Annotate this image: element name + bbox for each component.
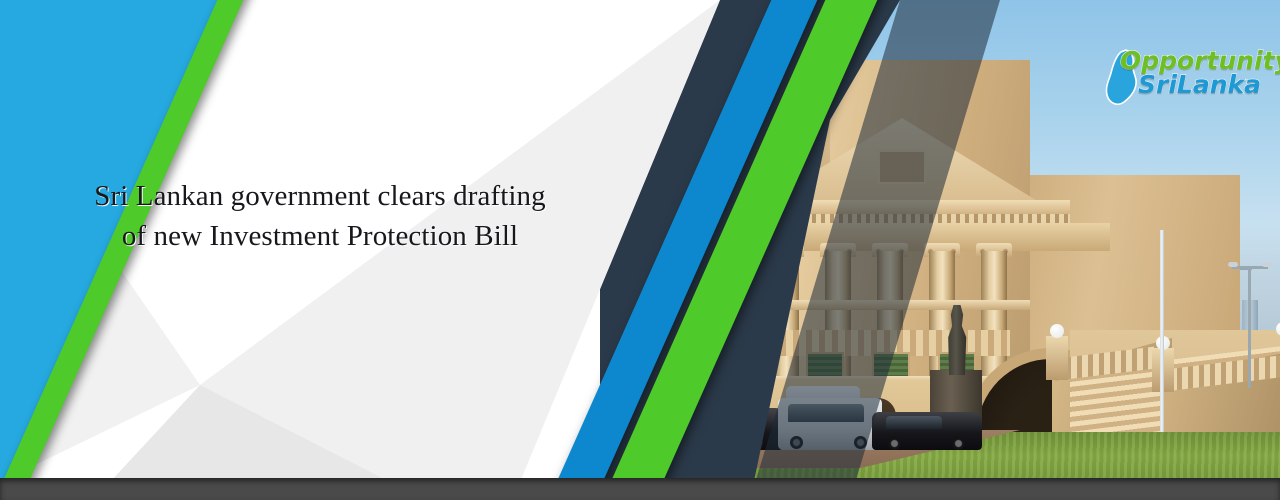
car-wheel xyxy=(952,437,965,450)
news-banner: Sri Lankan government clears drafting of… xyxy=(0,0,1280,500)
opportunity-sri-lanka-logo[interactable]: Opportunity SriLanka xyxy=(1100,46,1268,108)
logo-wordmark: Opportunity SriLanka xyxy=(1120,46,1270,106)
footer-bar xyxy=(0,478,1280,500)
street-lamp-post xyxy=(1248,268,1251,388)
street-lamp-head xyxy=(1228,262,1238,267)
logo-word-srilanka: SriLanka xyxy=(1138,70,1261,99)
headline-line-1: Sri Lankan government clears drafting xyxy=(60,176,580,216)
globe-lamp xyxy=(1050,324,1064,338)
car-window xyxy=(886,416,942,429)
parked-car xyxy=(872,412,982,450)
stair-newel-post xyxy=(1046,336,1068,380)
car-wheel xyxy=(888,437,901,450)
headline: Sri Lankan government clears drafting of… xyxy=(60,176,580,256)
headline-line-2: of new Investment Protection Bill xyxy=(60,216,580,256)
street-lamp-head xyxy=(1262,262,1272,267)
